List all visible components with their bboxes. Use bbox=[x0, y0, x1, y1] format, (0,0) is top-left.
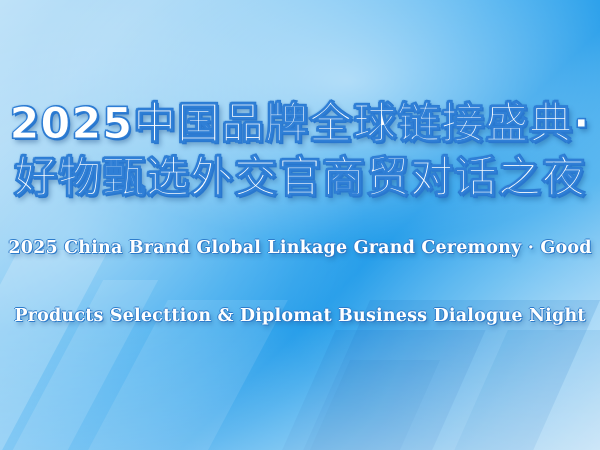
chinese-title-line-1: 2025中国品牌全球链接盛典· bbox=[0, 98, 600, 150]
poster-content: 2025中国品牌全球链接盛典· 好物甄选外交官商贸对话之夜 2025 China… bbox=[0, 0, 600, 450]
english-title-line-1: 2025 China Brand Global Linkage Grand Ce… bbox=[0, 238, 600, 258]
poster-image: 2025中国品牌全球链接盛典· 好物甄选外交官商贸对话之夜 2025 China… bbox=[0, 0, 600, 450]
chinese-title-line-2: 好物甄选外交官商贸对话之夜 bbox=[0, 152, 600, 204]
english-title-line-2: Products Selecttion & Diplomat Business … bbox=[0, 306, 600, 326]
